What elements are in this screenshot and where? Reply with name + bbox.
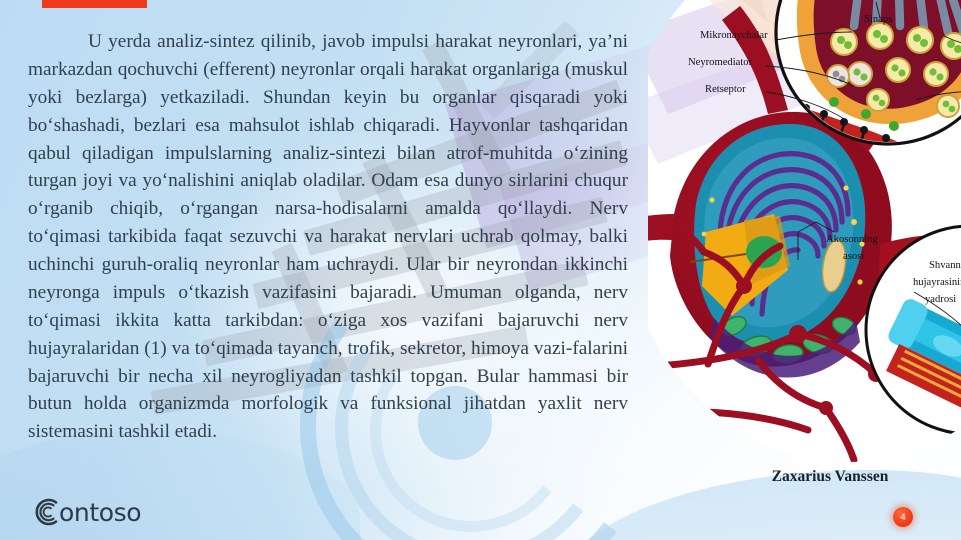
label-akson-asosi-2: asosi bbox=[843, 251, 864, 262]
label-mikronaychalar: Mikronaychalar bbox=[700, 30, 768, 41]
contoso-logo-text: ontoso bbox=[59, 500, 141, 525]
label-sinaps: Sinaps bbox=[864, 14, 892, 25]
slide-canvas: U yerda analiz-sintez qilinib, javob imp… bbox=[0, 0, 961, 540]
body-paragraph: U yerda analiz-sintez qilinib, javob imp… bbox=[28, 28, 628, 446]
page-number-badge: 4 bbox=[893, 507, 913, 527]
label-shvann-1: Shvann bbox=[929, 260, 961, 271]
contoso-logo: ontoso bbox=[33, 495, 141, 529]
label-shvann-3: yadrosi bbox=[925, 294, 956, 305]
figure-caption: Zaxarius Vanssen bbox=[700, 468, 960, 486]
label-retseptor: Retseptor bbox=[705, 84, 746, 95]
accent-bar bbox=[42, 0, 147, 8]
label-akson-asosi-1: Akosonning bbox=[826, 234, 878, 245]
label-shvann-2: hujayrasinin bbox=[913, 277, 961, 288]
diagram-artwork: A bbox=[648, 0, 961, 474]
neuron-diagram: A Mikronaychalar Neyromediator Retseptor… bbox=[648, 0, 961, 474]
label-neyromediator: Neyromediator bbox=[688, 57, 753, 68]
